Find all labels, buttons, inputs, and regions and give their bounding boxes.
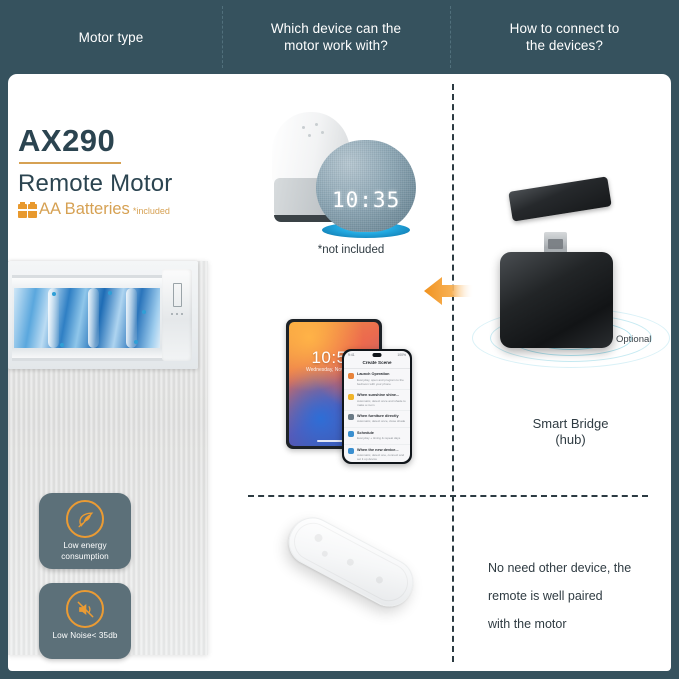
- battery-icon: [18, 204, 37, 218]
- smart-bridge-caption: Smart Bridge (hub): [478, 416, 663, 448]
- motor-photo-panel: Low energy consumption Low Noise< 35db: [8, 261, 208, 655]
- motor-head: [162, 269, 192, 361]
- header-bar: Motor type Which device can the motor wo…: [0, 0, 679, 74]
- remote-button: [375, 575, 384, 584]
- product-title-block: AX290 Remote Motor AA Batteries *include…: [18, 124, 233, 218]
- phone-status-bar: 9:41 100%: [344, 351, 410, 359]
- bridge-body: [500, 252, 613, 348]
- orange-left-arrow-icon: [422, 274, 476, 308]
- battery-label: AA Batteries: [39, 201, 130, 218]
- pairing-note-line1: No need other device, the: [488, 554, 668, 582]
- phone-status-battery: 100%: [397, 353, 406, 357]
- title-underline: [19, 162, 121, 164]
- remote-control-image: [266, 514, 446, 664]
- remote-button: [346, 557, 355, 566]
- pairing-note: No need other device, the remote is well…: [488, 554, 668, 638]
- phone-device: 9:41 100% Create Scene Launch Operation …: [342, 349, 412, 464]
- scene-icon: [348, 414, 354, 420]
- smart-speakers-image: 10:35: [258, 102, 444, 267]
- horizontal-dashed-divider: [248, 495, 648, 497]
- scene-icon: [348, 394, 354, 400]
- battery-included-note: *included: [133, 204, 170, 218]
- phone-notch: [373, 353, 382, 357]
- pairing-note-line3: with the motor: [488, 610, 668, 638]
- remote-control: [281, 509, 422, 614]
- smart-bridge-image: Optional: [478, 184, 663, 414]
- scene-icon: [348, 373, 354, 379]
- feature-badge-label: Low energy consumption: [39, 541, 131, 562]
- motor-tube: [12, 275, 164, 361]
- bridge-name-line1: Smart Bridge: [478, 416, 663, 432]
- feature-badge-low-noise: Low Noise< 35db: [39, 583, 131, 659]
- leaf-energy-icon: [66, 500, 104, 538]
- header-device-line1: Which device can the: [271, 20, 401, 37]
- scene-icon: [348, 448, 354, 454]
- not-included-caption: *not included: [258, 244, 444, 256]
- header-connect-line1: How to connect to: [510, 20, 620, 37]
- phone-app-title: Create Scene: [344, 359, 410, 369]
- echo-dot-speaker: 10:35: [316, 140, 416, 240]
- header-connect-line2: the devices?: [510, 37, 620, 54]
- scene-icon: [348, 431, 354, 437]
- header-divider-right: [450, 6, 451, 68]
- phone-list-item[interactable]: Schedule Everyday + timing & repeat days: [344, 428, 410, 445]
- header-column-connection: How to connect to the devices?: [450, 0, 679, 74]
- remote-button: [313, 533, 324, 544]
- header-device-line2: motor work with?: [271, 37, 401, 54]
- feature-badge-low-energy: Low energy consumption: [39, 493, 131, 569]
- product-model: AX290: [18, 124, 233, 158]
- phone-list-item[interactable]: When sunshine shine... Automatic, detect…: [344, 390, 410, 411]
- header-motor-type-label: Motor type: [79, 29, 144, 46]
- header-column-device-compatibility: Which device can the motor work with?: [222, 0, 450, 74]
- pairing-note-line2: remote is well paired: [488, 582, 668, 610]
- header-divider-left: [222, 6, 223, 68]
- phone-list-item[interactable]: Launch Operation Everyday, open and prog…: [344, 369, 410, 390]
- motor-core: [14, 288, 160, 348]
- mute-speaker-icon: [66, 590, 104, 628]
- product-name: Remote Motor: [18, 170, 233, 198]
- optional-label: Optional: [616, 334, 651, 345]
- bridge-name-line2: (hub): [478, 432, 663, 448]
- battery-line: AA Batteries *included: [18, 201, 233, 218]
- remote-button: [321, 550, 329, 558]
- phone-list-item[interactable]: When the new device... Automatic, detect…: [344, 445, 410, 463]
- echo-clock-display: 10:35: [332, 188, 400, 212]
- feature-badge-label: Low Noise< 35db: [39, 631, 131, 642]
- phone-status-time: 9:41: [348, 353, 355, 357]
- usb-cap: [508, 176, 611, 221]
- tablet-phone-image: 10:58 Wednesday, November 4 9:41 100% Cr…: [286, 309, 428, 464]
- content-card: AX290 Remote Motor AA Batteries *include…: [8, 74, 671, 671]
- header-column-motor-type: Motor type: [0, 0, 222, 74]
- motor-cutaway-image: [8, 261, 198, 369]
- phone-list-item[interactable]: When furniture directly Automatic, detec…: [344, 411, 410, 428]
- vertical-dashed-divider: [452, 84, 454, 662]
